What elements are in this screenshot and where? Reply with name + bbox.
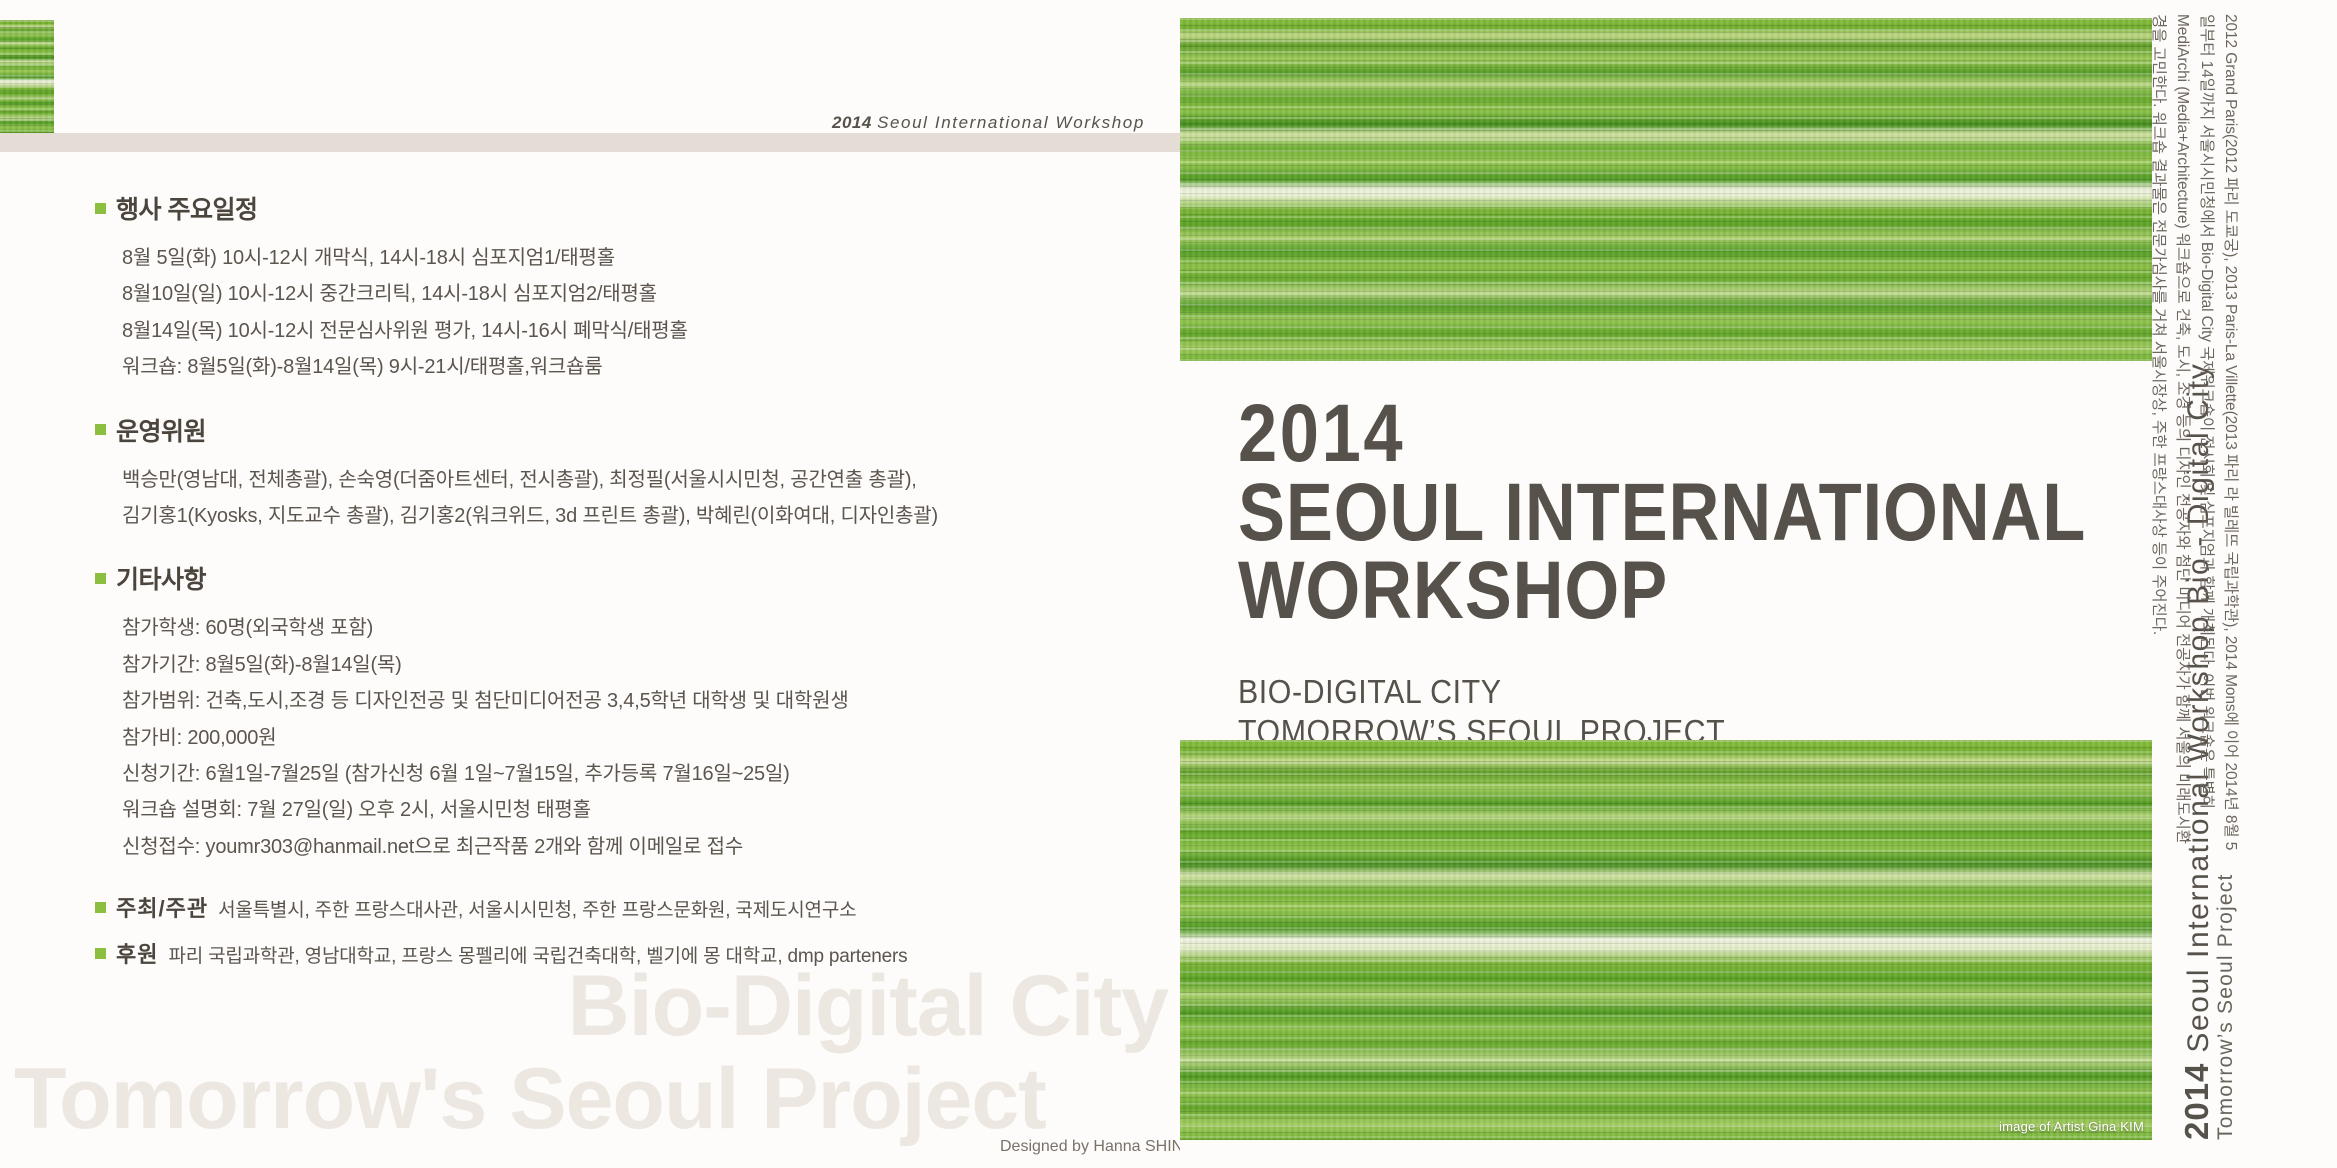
other-line: 참가비: 200,000원 [122, 720, 1175, 756]
spine-paragraph-line: MediArchi (Media+Architecture) 워크숍으로 건축,… [2170, 14, 2194, 1154]
main-title-line-1: SEOUL INTERNATIONAL [1238, 474, 2012, 553]
main-title-year: 2014 [1238, 395, 2012, 474]
main-subtitle-line-1: BIO-DIGITAL CITY [1238, 672, 1725, 712]
other-line: 참가학생: 60명(외국학생 포함) [122, 610, 1175, 646]
schedule-line: 8월10일(일) 10시-12시 중간크리틱, 14시-18시 심포지엄2/태평… [122, 276, 1175, 312]
running-head: 2014 Seoul International Workshop [832, 113, 1145, 133]
section-other-title: 기타사항 [116, 560, 206, 596]
hosts-label: 주최/주관 [116, 891, 208, 923]
grass-image-bottom: image of Artist Gina KIM [1180, 740, 2152, 1140]
committee-line: 김기홍1(Kyosks, 지도교수 총괄), 김기홍2(워크위드, 3d 프린트… [122, 498, 1175, 534]
bullet-square-icon [95, 902, 106, 913]
spine-description-paragraph: 2012 Grand Paris(2012 파리 도쿄궁), 2013 Pari… [2152, 14, 2242, 1154]
section-committee: 운영위원 백승만(영남대, 전체총괄), 손숙영(더줌아트센터, 전시총괄), … [0, 412, 1175, 535]
running-head-text: Seoul International Workshop [877, 113, 1145, 132]
schedule-line: 워크숍: 8월5일(화)-8월14일(목) 9시-21시/태평홀,워크숍룸 [122, 349, 1175, 385]
bullet-square-icon [95, 203, 106, 214]
section-schedule-body: 8월 5일(화) 10시-12시 개막식, 14시-18시 심포지엄1/태평홀 … [122, 240, 1175, 386]
watermark-line-2: Tomorrow's Seoul Project [0, 1053, 1180, 1146]
section-committee-body: 백승만(영남대, 전체총괄), 손숙영(더줌아트센터, 전시총괄), 최정필(서… [122, 462, 1175, 535]
poster-canvas: 2014 Seoul International Workshop 행사 주요일… [0, 0, 2337, 1168]
section-committee-title: 운영위원 [116, 412, 206, 448]
background-watermark: Bio-Digital City Tomorrow's Seoul Projec… [0, 960, 1180, 1146]
other-line: 참가기간: 8월5일(화)-8월14일(목) [122, 647, 1175, 683]
corner-grass-swatch [0, 20, 54, 142]
section-sponsors: 후원 파리 국립과학관, 영남대학교, 프랑스 몽펠리에 국립건축대학, 벨기에… [95, 937, 1175, 969]
running-head-year: 2014 [832, 113, 872, 132]
schedule-line: 8월14일(목) 10시-12시 전문심사위원 평가, 14시-16시 폐막식/… [122, 313, 1175, 349]
center-panel: 2014 SEOUL INTERNATIONAL WORKSHOP BIO-DI… [1180, 0, 2152, 1168]
sponsors-value: 파리 국립과학관, 영남대학교, 프랑스 몽펠리에 국립건축대학, 벨기에 몽 … [168, 941, 907, 968]
other-line: 신청기간: 6월1일-7월25일 (참가신청 6월 1일~7월15일, 추가등록… [122, 756, 1175, 792]
main-title-line-2: WORKSHOP [1238, 552, 2012, 631]
grass-image-top [1180, 18, 2152, 361]
sponsors-label: 후원 [116, 937, 158, 969]
section-hosts: 주최/주관 서울특별시, 주한 프랑스대사관, 서울시시민청, 주한 프랑스문화… [95, 891, 1175, 923]
hosts-value: 서울특별시, 주한 프랑스대사관, 서울시시민청, 주한 프랑스문화원, 국제도… [218, 895, 856, 922]
bullet-square-icon [95, 573, 106, 584]
other-line: 참가범위: 건축,도시,조경 등 디자인전공 및 첨단미디어전공 3,4,5학년… [122, 683, 1175, 719]
section-schedule: 행사 주요일정 8월 5일(화) 10시-12시 개막식, 14시-18시 심포… [0, 190, 1175, 386]
image-credit: image of Artist Gina KIM [1999, 1119, 2144, 1134]
section-other: 기타사항 참가학생: 60명(외국학생 포함) 참가기간: 8월5일(화)-8월… [0, 560, 1175, 865]
main-title-block: 2014 SEOUL INTERNATIONAL WORKSHOP [1238, 395, 2138, 631]
section-other-header: 기타사항 [95, 560, 1175, 596]
section-other-body: 참가학생: 60명(외국학생 포함) 참가기간: 8월5일(화)-8월14일(목… [122, 610, 1175, 865]
designer-credit: Designed by Hanna SHIN [1000, 1138, 1183, 1156]
header-bar [0, 133, 1180, 152]
bullet-square-icon [95, 948, 106, 959]
other-line: 워크숍 설명회: 7월 27일(일) 오후 2시, 서울시민청 태평홀 [122, 792, 1175, 828]
spine-paragraph-line: 일부터 14일까지 서울시시민청에서 Bio-Digital City 국제워크… [2194, 14, 2218, 1154]
section-schedule-title: 행사 주요일정 [116, 190, 257, 226]
vertical-spine: 2014 Seoul International Workshop Bio - … [2152, 0, 2337, 1168]
section-schedule-header: 행사 주요일정 [95, 190, 1175, 226]
bullet-square-icon [95, 424, 106, 435]
section-committee-header: 운영위원 [95, 412, 1175, 448]
spine-paragraph-line: 경을 고민한다. 워크숍 결과물은 전문가심사를 거쳐 서울시장상, 주한 프랑… [2146, 14, 2170, 1154]
committee-line: 백승만(영남대, 전체총괄), 손숙영(더줌아트센터, 전시총괄), 최정필(서… [122, 462, 1175, 498]
spine-paragraph-line: 2012 Grand Paris(2012 파리 도쿄궁), 2013 Pari… [2218, 14, 2242, 1154]
schedule-line: 8월 5일(화) 10시-12시 개막식, 14시-18시 심포지엄1/태평홀 [122, 240, 1175, 276]
other-line-application[interactable]: 신청접수: youmr303@hanmail.net으로 최근작품 2개와 함께… [122, 829, 1175, 865]
info-column: 행사 주요일정 8월 5일(화) 10시-12시 개막식, 14시-18시 심포… [0, 190, 1175, 983]
